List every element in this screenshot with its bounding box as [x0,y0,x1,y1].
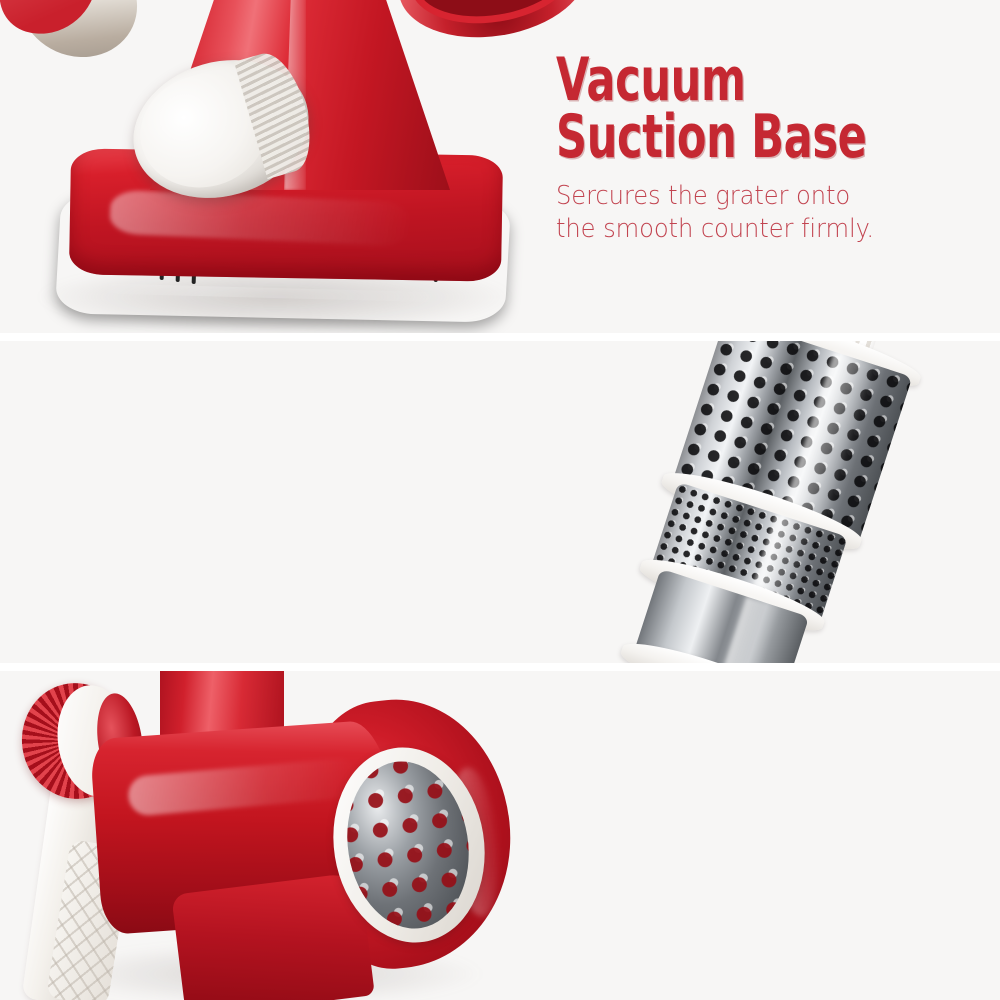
product-image-one-piece-grater [0,671,540,1000]
feature-panel-stackable-drum-blades: Stackable Drum Blades Made of 430 stainl… [0,341,1000,663]
headline-vacuum-suction-base: Vacuum Suction Base [556,52,867,166]
subtext-line: Sercures the grater onto [556,180,925,213]
subtext-line: the smooth counter firmly. [556,213,925,246]
product-image-suction-base [0,0,560,333]
product-image-drum-blades [570,341,1000,663]
feature-panel-one-piece-design: One-Piece Design For long using life. [0,671,1000,1000]
product-feature-infographic: Vacuum Suction Base Sercures the grater … [0,0,1000,1000]
feature-panel-vacuum-suction-base: Vacuum Suction Base Sercures the grater … [0,0,1000,333]
subtext-vacuum-suction-base: Sercures the grater onto the smooth coun… [556,180,925,246]
headline-line: Vacuum [556,52,867,109]
feature-text-vacuum-suction-base: Vacuum Suction Base Sercures the grater … [556,52,944,246]
panel-divider [0,333,1000,341]
stacked-drum-assembly [605,341,966,663]
panel-divider [0,663,1000,671]
headline-line: Suction Base [556,109,867,166]
red-base-strut [171,872,375,1000]
drum-gloss [720,597,779,663]
